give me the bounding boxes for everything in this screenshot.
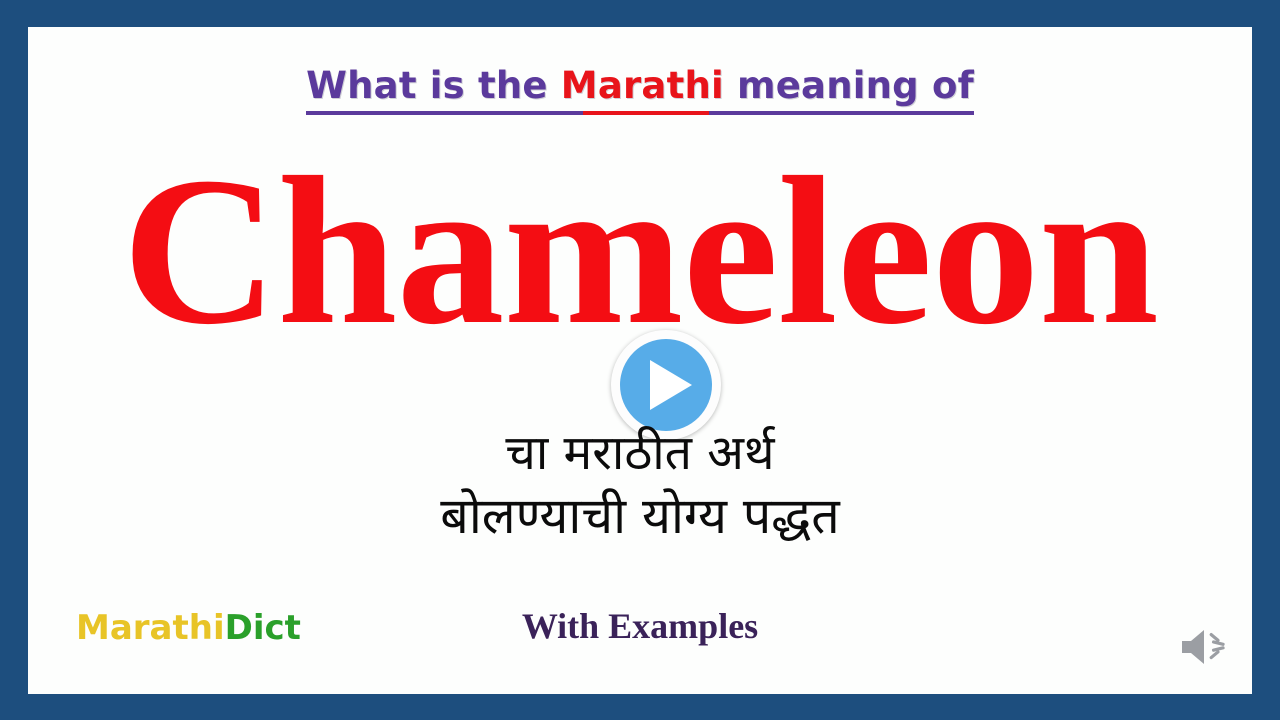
play-triangle-icon [650, 360, 692, 410]
heading-underline [306, 111, 974, 115]
speaker-icon[interactable] [1178, 623, 1238, 671]
underline-segment-purple-left [306, 111, 583, 115]
slide-canvas: What is the Marathi meaning of Chameleon… [0, 0, 1280, 720]
logo-text-marathi: Marathi [76, 608, 225, 648]
heading-highlight-marathi: Marathi [561, 64, 724, 107]
underline-segment-red [583, 111, 709, 115]
play-icon [620, 339, 712, 431]
logo-text-dict: Dict [225, 608, 301, 648]
marathidict-logo: MarathiDict [76, 608, 301, 648]
page-title: What is the Marathi meaning of [28, 65, 1252, 106]
marathi-line-2: बोलण्याची योग्य पद्धत [28, 484, 1252, 548]
underline-segment-purple-right [709, 111, 974, 115]
slide-card: What is the Marathi meaning of Chameleon… [28, 27, 1252, 694]
marathi-subtitle: चा मराठीत अर्थ बोलण्याची योग्य पद्धत [28, 423, 1252, 548]
marathi-line-1: चा मराठीत अर्थ [28, 423, 1252, 484]
heading-part-1: What is the [306, 64, 561, 107]
main-word: Chameleon [28, 145, 1252, 357]
heading-text: What is the Marathi meaning of [306, 65, 974, 106]
heading-part-2: meaning of [724, 64, 974, 107]
